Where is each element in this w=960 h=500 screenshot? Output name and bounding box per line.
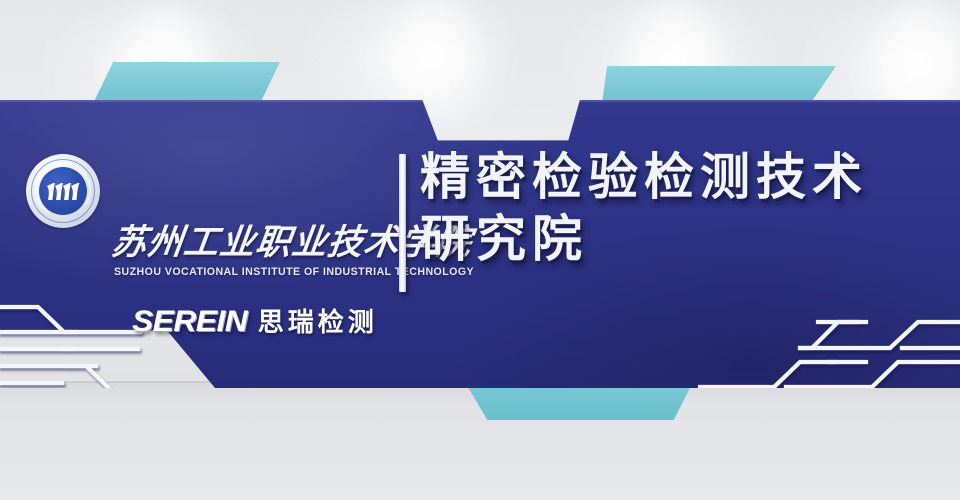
headline-line-1: 精密检验检测技术 [420, 146, 950, 208]
partner-logo-latin: SEREIN [132, 305, 247, 339]
emblem-monogram-icon [46, 183, 80, 200]
partner-logo-row: SEREIN 思瑞检测 [132, 302, 378, 339]
panel-content: 苏州工业职业技术学院 SUZHOU VOCATIONAL INSTITUTE O… [0, 100, 960, 388]
branding-block: 苏州工业职业技术学院 SUZHOU VOCATIONAL INSTITUTE O… [16, 152, 396, 234]
vertical-divider-bar [399, 154, 406, 292]
emblem-core [39, 167, 87, 215]
headline-line-2: 研究院 [420, 208, 950, 270]
partner-logo-cn: 思瑞检测 [258, 302, 378, 339]
signage-scene: 苏州工业职业技术学院 SUZHOU VOCATIONAL INSTITUTE O… [0, 0, 960, 500]
institute-headline: 精密检验检测技术 研究院 [420, 146, 950, 270]
school-emblem-icon [26, 154, 100, 228]
